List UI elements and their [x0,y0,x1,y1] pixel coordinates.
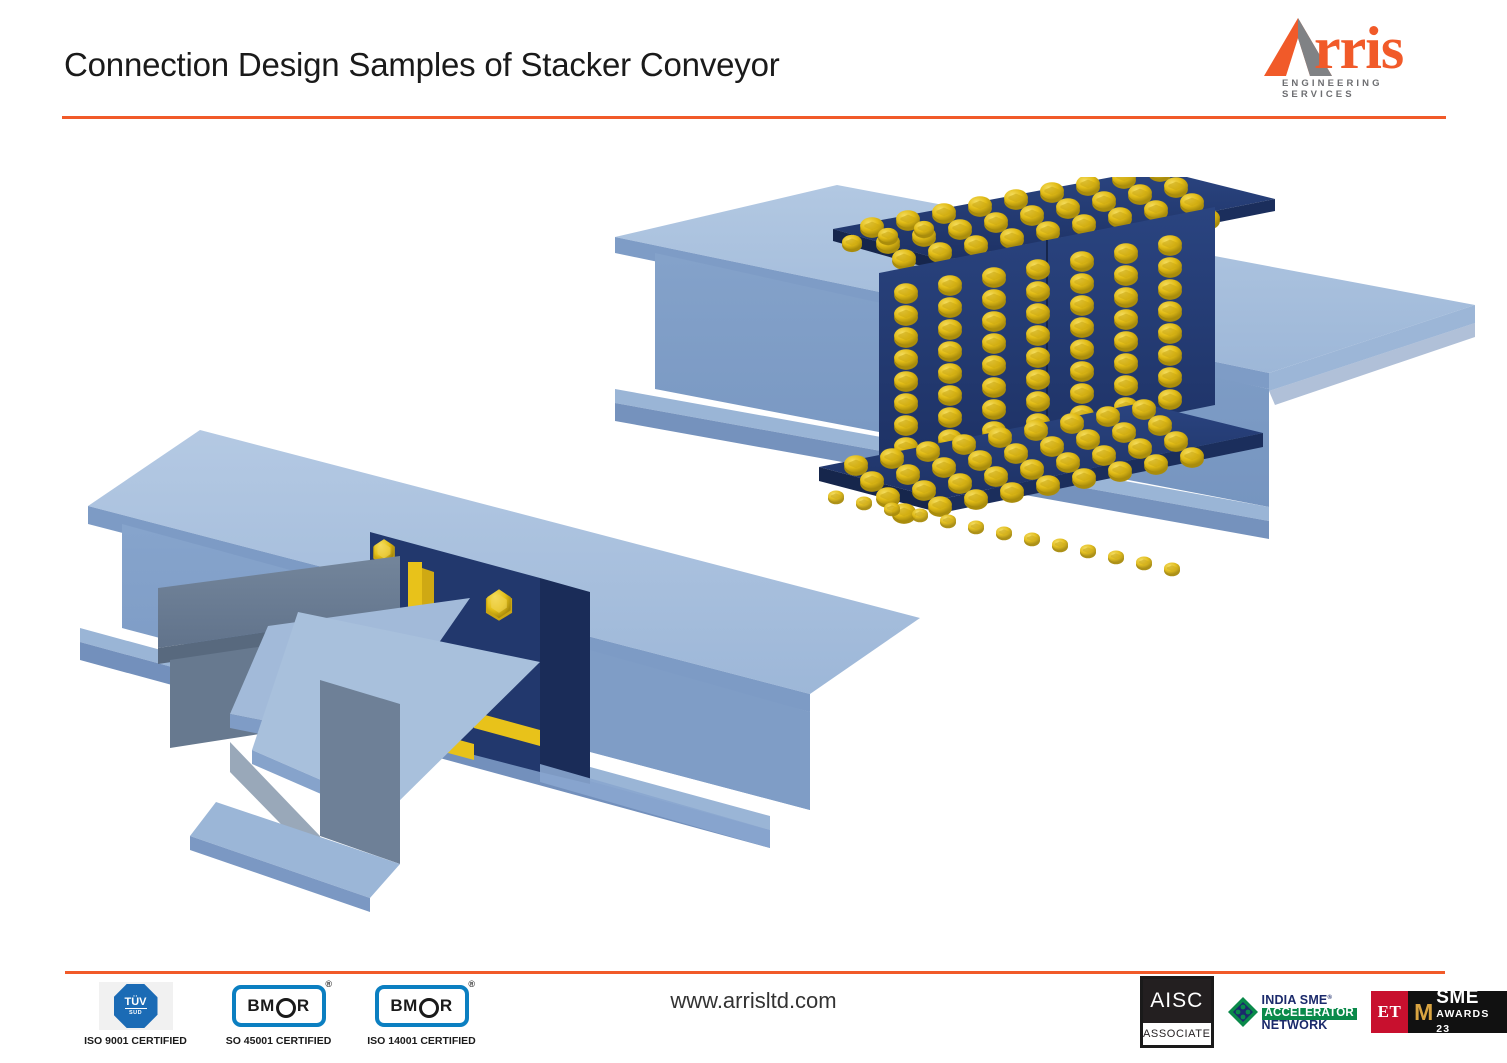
tuv-sud-badge-icon: TÜV SUD [78,982,193,1030]
msme-title: SME [1436,988,1497,1007]
certification-iso-14001: BMR® ISO 14001 CERTIFIED [364,982,479,1047]
slide-content-area [0,122,1507,968]
accreditation-badges: AISC ASSOCIATE INDIA SME® ACCELERATOR NE… [1140,976,1507,1048]
et-msme-awards-badge: ET M SME AWARDS 23 [1371,991,1507,1033]
india-sme-diamond-icon [1228,997,1258,1027]
india-sme-line3: NETWORK [1262,1020,1357,1032]
certification-label: ISO 14001 CERTIFIED [364,1035,479,1047]
bmqr-badge-icon: BMR® [364,982,479,1030]
certification-badges: TÜV SUD ISO 9001 CERTIFIED BMR® SO 45001… [78,982,479,1047]
msme-initial: M [1414,1002,1433,1022]
footer-divider [65,971,1445,974]
msme-subtitle: AWARDS 23 [1436,1007,1497,1037]
page-footer: www.arrisltd.com TÜV SUD ISO 9001 CERTIF… [0,968,1507,1063]
registered-mark: ® [1327,995,1332,1001]
arris-logo-tagline: ENGINEERING SERVICES [1282,78,1452,100]
page-header: Connection Design Samples of Stacker Con… [0,0,1507,120]
header-divider [62,116,1446,119]
aisc-associate-badge: AISC ASSOCIATE [1140,976,1214,1048]
aisc-label: AISC [1143,979,1211,1023]
page-title: Connection Design Samples of Stacker Con… [64,46,780,84]
et-logo: ET [1371,991,1408,1033]
bmqr-badge-icon: BMR® [221,982,336,1030]
arris-logo: rris ENGINEERING SERVICES [1262,14,1452,100]
aisc-associate-label: ASSOCIATE [1143,1023,1211,1045]
arris-logo-wordmark: rris [1314,14,1403,83]
certification-label: SO 45001 CERTIFIED [221,1035,336,1047]
india-sme-accelerator-network-badge: INDIA SME® ACCELERATOR NETWORK [1228,993,1357,1032]
certification-iso-9001: TÜV SUD ISO 9001 CERTIFIED [78,982,193,1047]
render-beam-to-beam-moment-connection [70,412,960,932]
certification-label: ISO 9001 CERTIFIED [78,1035,193,1047]
certification-iso-45001: BMR® SO 45001 CERTIFIED [221,982,336,1047]
india-sme-line1: INDIA SME [1262,993,1328,1007]
